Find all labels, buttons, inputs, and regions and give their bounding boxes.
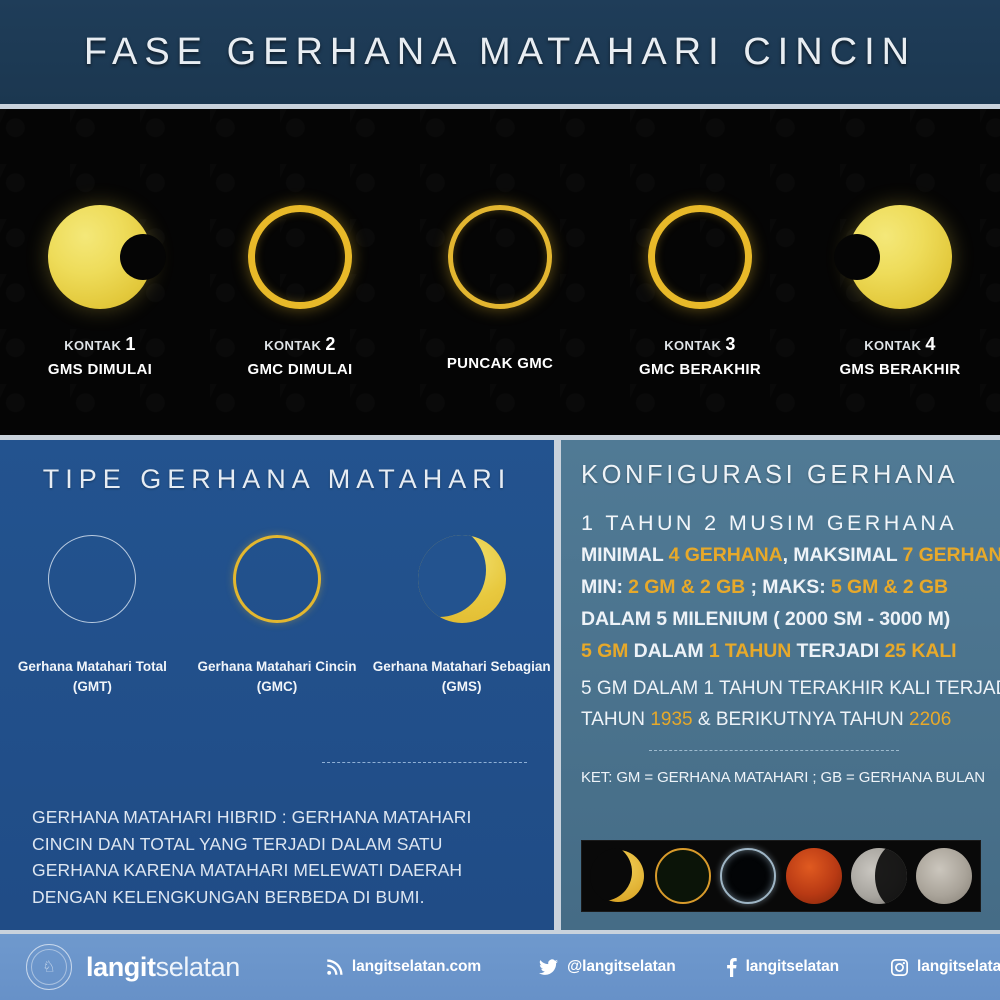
- type-item-gmc: Gerhana Matahari Cincin (GMC): [185, 535, 370, 698]
- type-abbr-gmc: (GMC): [197, 677, 356, 697]
- annular-eclipse-ring-icon: [233, 535, 321, 623]
- total-lunar-eclipse-blood-moon-photo: [786, 848, 842, 904]
- infographic-page: FASE GERHANA MATAHARI CINCIN KONTAK 1 GM…: [0, 0, 1000, 1000]
- config-line-2: MIN: 2 GM & 2 GB ; MAKS: 5 GM & 2 GB: [581, 575, 1000, 600]
- phase-kontak-label-2: KONTAK: [264, 338, 321, 353]
- total-eclipse-circle-icon: [48, 535, 136, 623]
- phase-kontak-label-4: KONTAK: [664, 338, 721, 353]
- partial-eclipse-crescent-icon: [418, 535, 506, 623]
- link-twitter-label: @langitselatan: [567, 958, 675, 976]
- config-line1-d: 7 GERHANA: [903, 544, 1000, 566]
- phase-name-4: GMC BERAKHIR: [639, 359, 761, 381]
- config-line2-a: MIN:: [581, 576, 628, 598]
- link-twitter[interactable]: @langitselatan: [539, 958, 675, 976]
- phase-kontak-number-2: 2: [325, 334, 335, 354]
- phase-name-5: GMS BERAKHIR: [839, 359, 960, 381]
- hybrid-eclipse-note: GERHANA MATAHARI HIBRID : GERHANA MATAHA…: [32, 804, 532, 910]
- config-line2-d: 5 GM & 2 GB: [831, 576, 948, 598]
- link-website[interactable]: langitselatan.com: [326, 958, 481, 976]
- footer-bar: ♘ langitselatan langitselatan.com @langi…: [0, 934, 1000, 1000]
- config-line-6: TAHUN 1935 & BERIKUTNYA TAHUN 2206: [581, 708, 1000, 732]
- phase-item-3: PUNCAK GMC: [400, 109, 600, 375]
- type-abbr-gmt: (GMT): [18, 677, 167, 697]
- config-line2-c: ; MAKS:: [745, 576, 831, 598]
- facebook-icon: [726, 958, 737, 977]
- config-line6-b: 1935: [650, 709, 692, 730]
- config-line-1: MINIMAL 4 GERHANA, MAKSIMAL 7 GERHANA: [581, 543, 1000, 568]
- config-line2-b: 2 GM & 2 GB: [628, 576, 745, 598]
- phase-kontak-number-1: 1: [125, 334, 135, 354]
- config-line4-e: 25 KALI: [885, 640, 957, 662]
- page-title: FASE GERHANA MATAHARI CINCIN: [84, 31, 916, 74]
- partial-lunar-eclipse-photo: [851, 848, 907, 904]
- rss-icon: [326, 959, 343, 976]
- brand-light-text: selatan: [156, 952, 240, 982]
- config-line4-d: TERJADI: [791, 640, 884, 662]
- link-instagram-label: langitselatanmedia: [917, 958, 1000, 976]
- divider-dashed: [322, 762, 527, 764]
- type-name-gmt: Gerhana Matahari Total: [18, 657, 167, 677]
- config-line6-a: TAHUN: [581, 709, 650, 730]
- type-name-gmc: Gerhana Matahari Cincin: [197, 657, 356, 677]
- twitter-icon: [539, 959, 558, 976]
- partial-solar-eclipse-photo: [590, 848, 646, 904]
- config-line-3: DALAM 5 MILENIUM ( 2000 SM - 3000 M): [581, 607, 1000, 632]
- config-line6-d: 2206: [909, 709, 951, 730]
- config-line6-c: & BERIKUTNYA TAHUN: [693, 709, 909, 730]
- types-panel-title: TIPE GERHANA MATAHARI: [0, 464, 554, 495]
- config-divider-dashed: [649, 750, 899, 752]
- total-solar-eclipse-corona-photo: [720, 848, 776, 904]
- link-instagram[interactable]: langitselatanmedia: [891, 958, 1000, 976]
- config-legend-note: KET: GM = GERHANA MATAHARI ; GB = GERHAN…: [581, 769, 1000, 786]
- phase-name-2: GMC DIMULAI: [248, 359, 353, 381]
- annular-ring-thin-icon: [448, 205, 552, 309]
- phase-item-5: KONTAK 4 GMS BERAKHIR: [800, 109, 1000, 381]
- langitselatan-seal-logo: ♘: [26, 944, 72, 990]
- config-line1-c: , MAKSIMAL: [783, 544, 903, 566]
- penumbral-lunar-eclipse-photo: [916, 848, 972, 904]
- lower-panels: TIPE GERHANA MATAHARI Gerhana Matahari T…: [0, 440, 1000, 930]
- brand-block[interactable]: ♘ langitselatan: [26, 944, 240, 990]
- phase-name-1: GMS DIMULAI: [48, 359, 152, 381]
- config-line4-c: 1 TAHUN: [709, 640, 791, 662]
- annular-ring-icon: [648, 205, 752, 309]
- type-item-gmt: Gerhana Matahari Total (GMT): [0, 535, 185, 698]
- config-line-5: 5 GM DALAM 1 TAHUN TERAKHIR KALI TERJADI: [581, 677, 1000, 701]
- brand-wordmark: langitselatan: [86, 952, 240, 983]
- config-line1-a: MINIMAL: [581, 544, 669, 566]
- phase-name-3: PUNCAK GMC: [447, 353, 553, 375]
- phase-kontak-number-5: 4: [925, 334, 935, 354]
- link-website-label: langitselatan.com: [352, 958, 481, 976]
- sun-partial-bite-right-icon: [48, 205, 152, 309]
- instagram-icon: [891, 959, 908, 976]
- phase-item-2: KONTAK 2 GMC DIMULAI: [200, 109, 400, 381]
- annular-ring-icon: [248, 205, 352, 309]
- link-facebook-label: langitselatan: [746, 958, 839, 976]
- header-banner: FASE GERHANA MATAHARI CINCIN: [0, 0, 1000, 104]
- annular-solar-eclipse-photo: [655, 848, 711, 904]
- config-line-4: 5 GM DALAM 1 TAHUN TERJADI 25 KALI: [581, 639, 1000, 664]
- type-name-gms: Gerhana Matahari Sebagian: [373, 657, 551, 677]
- phase-item-1: KONTAK 1 GMS DIMULAI: [0, 109, 200, 381]
- phase-kontak-label-1: KONTAK: [64, 338, 121, 353]
- sun-partial-bite-left-icon: [848, 205, 952, 309]
- config-line4-b: DALAM: [628, 640, 709, 662]
- config-panel-title: KONFIGURASI GERHANA: [581, 461, 1000, 490]
- link-facebook[interactable]: langitselatan: [726, 958, 839, 977]
- phase-kontak-label-5: KONTAK: [864, 338, 921, 353]
- config-subtitle: 1 TAHUN 2 MUSIM GERHANA: [581, 511, 1000, 536]
- config-line4-a: 5 GM: [581, 640, 628, 662]
- eclipse-phases-section: KONTAK 1 GMS DIMULAI KONTAK 2 GMC DIMULA…: [0, 109, 1000, 435]
- eclipse-config-panel: KONFIGURASI GERHANA 1 TAHUN 2 MUSIM GERH…: [561, 440, 1000, 930]
- type-abbr-gms: (GMS): [373, 677, 551, 697]
- type-item-gms: Gerhana Matahari Sebagian (GMS): [369, 535, 554, 698]
- phase-kontak-number-4: 3: [725, 334, 735, 354]
- eclipse-types-panel: TIPE GERHANA MATAHARI Gerhana Matahari T…: [0, 440, 554, 930]
- phase-item-4: KONTAK 3 GMC BERAKHIR: [600, 109, 800, 381]
- eclipse-photo-strip: [581, 840, 981, 912]
- brand-bold-text: langit: [86, 952, 156, 982]
- config-line1-b: 4 GERHANA: [669, 544, 783, 566]
